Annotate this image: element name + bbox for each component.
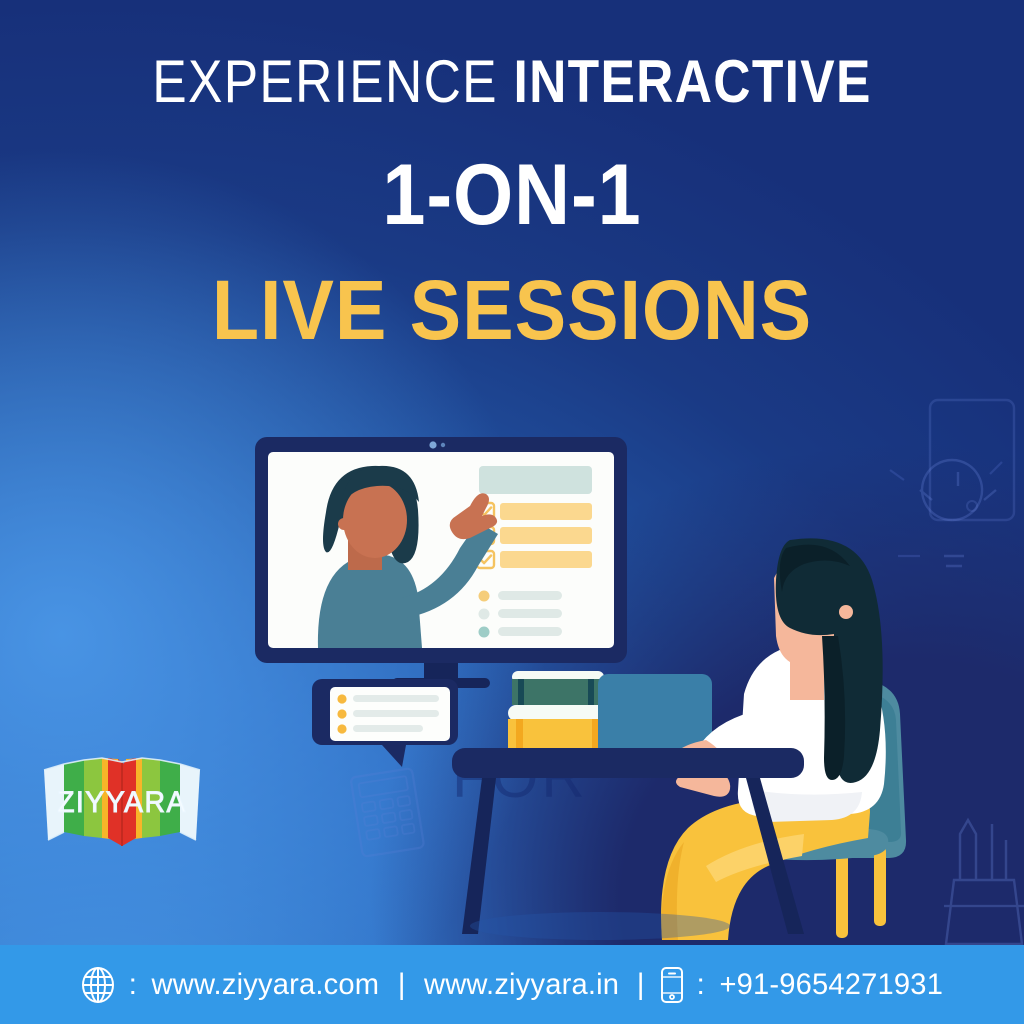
classroom-illustration (0, 0, 1024, 1024)
ziyyara-logo: ZIYYARA (38, 748, 206, 856)
logo-wordmark: ZIYYARA (42, 786, 202, 820)
desktop-monitor (255, 437, 627, 688)
footer-divider-1: | (394, 968, 410, 1002)
footer-colon-2: : (696, 968, 704, 1002)
globe-icon (78, 965, 118, 1005)
book-stack (508, 671, 608, 749)
website-url-in[interactable]: www.ziyyara.in (424, 968, 619, 1002)
poster-canvas: EXPERIENCE INTERACTIVE 1-ON-1 LIVE SESSI… (0, 0, 1024, 1024)
footer-colon-1: : (129, 968, 137, 1002)
checklist-header-bar (479, 466, 592, 494)
chat-bubble (312, 679, 458, 767)
website-url-com[interactable]: www.ziyyara.com (152, 968, 380, 1002)
phone-number[interactable]: +91-9654271931 (719, 968, 943, 1002)
footer-divider-2: | (633, 968, 649, 1002)
mobile-phone-icon (659, 965, 685, 1005)
contact-footer: : www.ziyyara.com | www.ziyyara.in | : +… (0, 945, 1024, 1024)
